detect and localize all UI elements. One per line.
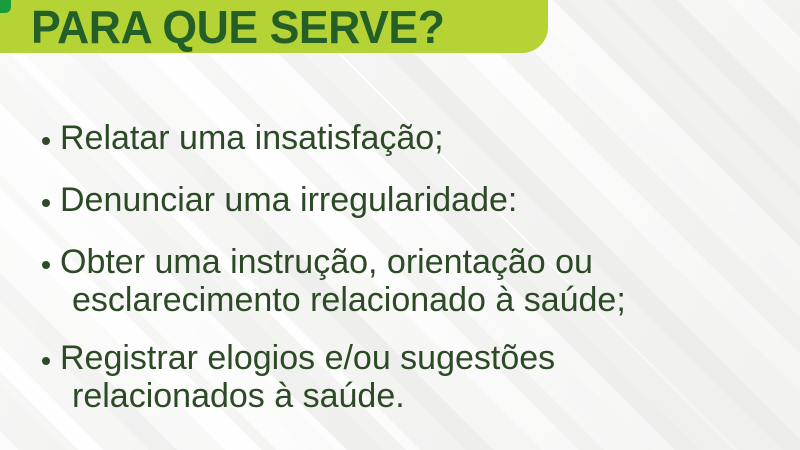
header-accent-mark [0, 0, 11, 13]
page-title: PARA QUE SERVE? [31, 4, 444, 50]
list-item: Registrar elogios e/ou sugestõesrelacion… [42, 340, 782, 414]
list-item-text: Relatar uma insatisfação; [60, 120, 444, 156]
list-item-text: Registrar elogios e/ou sugestõesrelacion… [60, 340, 555, 414]
list-item: Denunciar uma irregularidade: [42, 182, 782, 218]
list-item-line: relacionados à saúde. [72, 378, 555, 414]
list-item: Relatar uma insatisfação; [42, 120, 782, 156]
bullet-list: Relatar uma insatisfação;Denunciar uma i… [42, 120, 782, 436]
list-item-line: Relatar uma insatisfação; [60, 120, 444, 156]
list-item-text: Obter uma instrução, orientação ouesclar… [60, 244, 626, 318]
bullet-dot-icon [42, 199, 50, 207]
list-item: Obter uma instrução, orientação ouesclar… [42, 244, 782, 318]
list-item-line: Registrar elogios e/ou sugestões [60, 340, 555, 376]
bullet-dot-icon [42, 137, 50, 145]
header-banner: PARA QUE SERVE? [0, 0, 548, 53]
slide-canvas: PARA QUE SERVE? Relatar uma insatisfação… [0, 0, 800, 450]
list-item-line: Denunciar uma irregularidade: [60, 182, 517, 218]
list-item-line: esclarecimento relacionado à saúde; [72, 282, 626, 318]
list-item-text: Denunciar uma irregularidade: [60, 182, 517, 218]
list-item-line: Obter uma instrução, orientação ou [60, 244, 626, 280]
bullet-dot-icon [42, 261, 50, 269]
bullet-dot-icon [42, 357, 50, 365]
